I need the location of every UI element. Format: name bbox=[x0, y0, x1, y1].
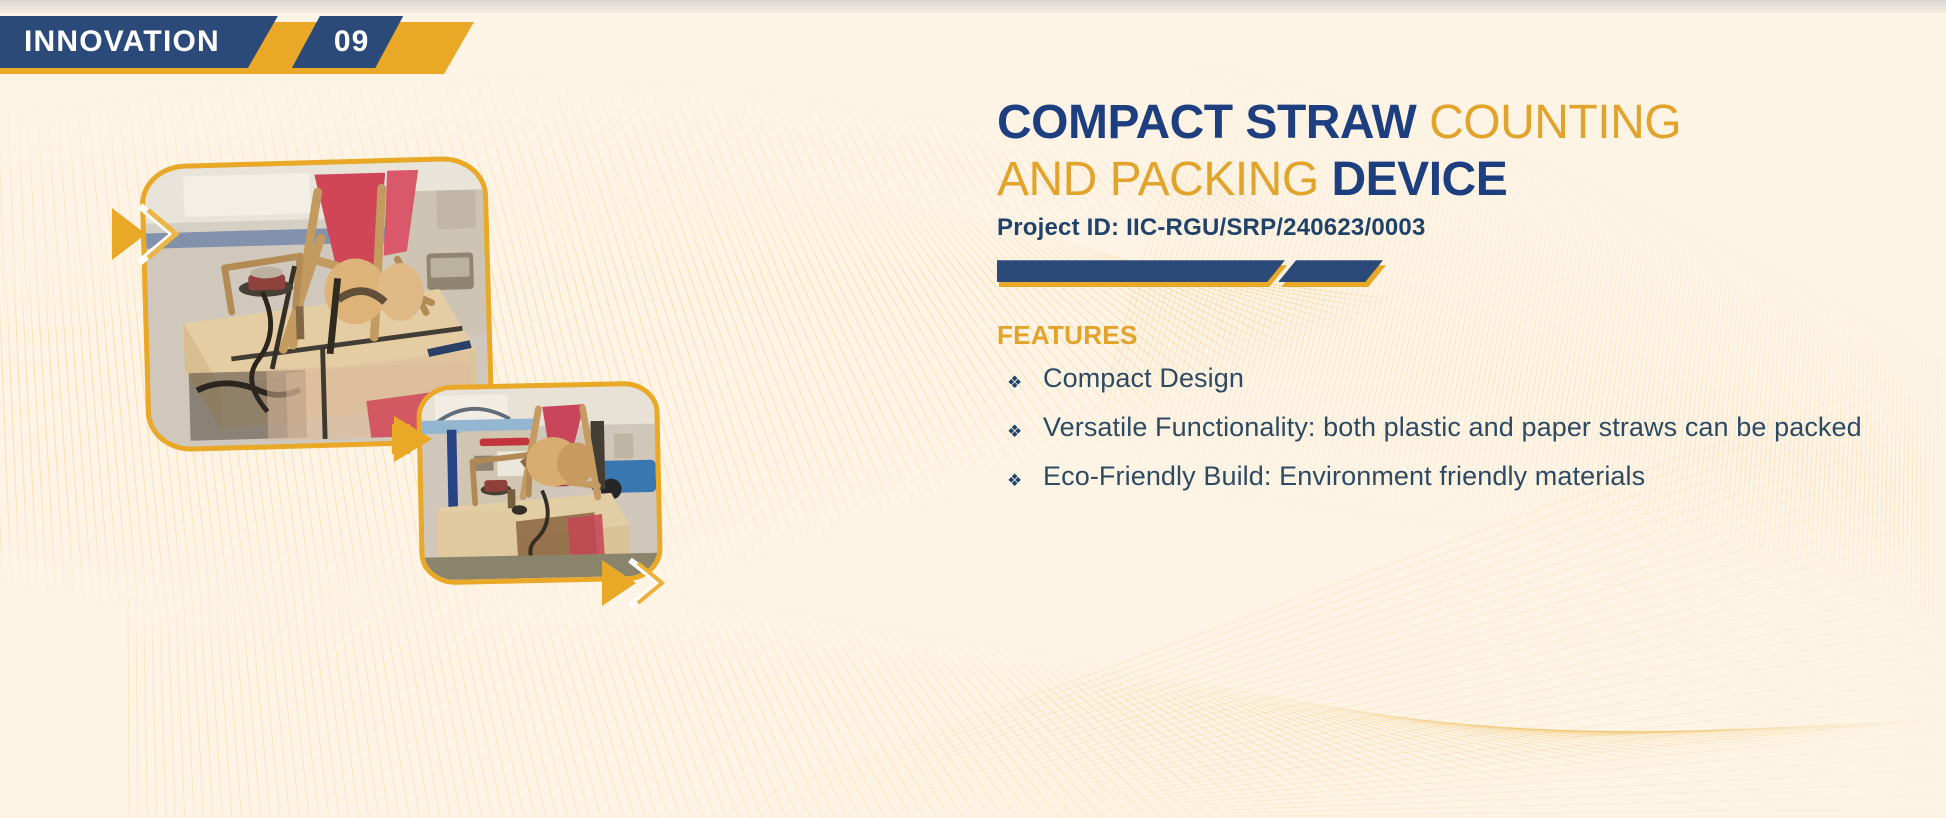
innovation-banner: INNOVATION 09 bbox=[0, 16, 403, 68]
project-id: Project ID: IIC-RGU/SRP/240623/0003 bbox=[997, 214, 1902, 242]
banner-label: INNOVATION bbox=[24, 27, 220, 57]
banner-separator bbox=[278, 16, 292, 68]
title-part-compact-straw: COMPACT STRAW bbox=[997, 96, 1429, 149]
divider-bar-1 bbox=[997, 260, 1285, 282]
list-item: ❖ Eco-Friendly Build: Environment friend… bbox=[997, 459, 1902, 503]
arrow-photo-link bbox=[392, 408, 454, 470]
divider-bar-2 bbox=[1278, 260, 1383, 282]
title-part-device: DEVICE bbox=[1332, 153, 1508, 206]
diamond-bullet-icon: ❖ bbox=[997, 361, 1043, 405]
banner-number-block: 09 bbox=[292, 16, 403, 68]
previous-slide-edge bbox=[0, 0, 1946, 13]
feature-text: Compact Design bbox=[1043, 361, 1244, 397]
diamond-bullet-icon: ❖ bbox=[997, 459, 1043, 503]
divider-decoration bbox=[997, 260, 1477, 288]
slide-root: INNOVATION 09 COMPACT STRAW COUNTING AND… bbox=[0, 0, 1946, 818]
feature-text: Versatile Functionality: both plastic an… bbox=[1043, 410, 1862, 446]
content-column: COMPACT STRAW COUNTING AND PACKING DEVIC… bbox=[997, 95, 1902, 508]
diamond-bullet-icon: ❖ bbox=[997, 410, 1043, 454]
chevron-arrow-left-main bbox=[110, 198, 194, 270]
title-part-counting: COUNTING bbox=[1429, 96, 1681, 149]
features-heading: FEATURES bbox=[997, 320, 1902, 351]
list-item: ❖ Compact Design bbox=[997, 361, 1902, 405]
banner-number: 09 bbox=[334, 27, 369, 57]
banner-main-block: INNOVATION bbox=[0, 16, 278, 68]
features-list: ❖ Compact Design ❖ Versatile Functionali… bbox=[997, 361, 1902, 503]
page-title: COMPACT STRAW COUNTING AND PACKING DEVIC… bbox=[997, 95, 1902, 208]
chevron-arrow-bottom-right bbox=[600, 552, 680, 614]
title-part-and-packing: AND PACKING bbox=[997, 153, 1332, 206]
feature-text: Eco-Friendly Build: Environment friendly… bbox=[1043, 459, 1645, 495]
list-item: ❖ Versatile Functionality: both plastic … bbox=[997, 410, 1902, 454]
